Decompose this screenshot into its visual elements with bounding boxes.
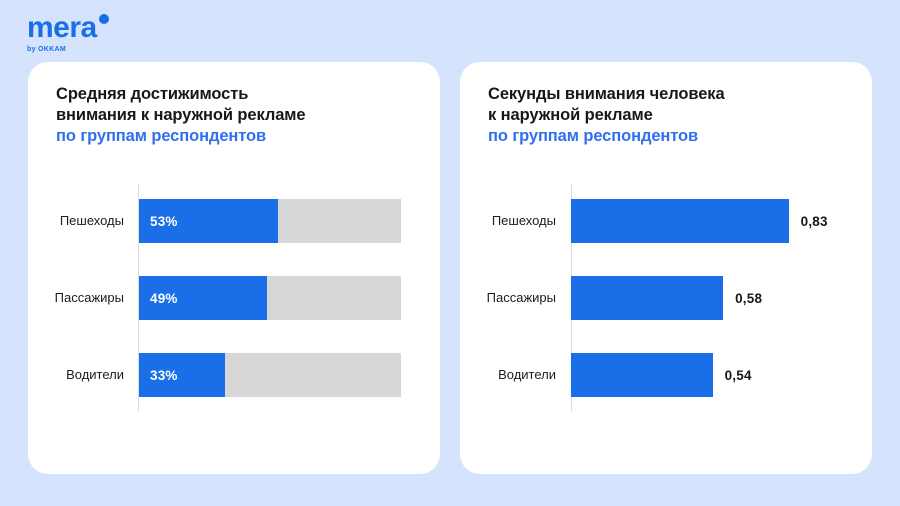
chart-reach-track: 33% [139, 353, 401, 397]
chart-reach-bar: 53% [139, 199, 278, 243]
chart-seconds-bar-value: 0,58 [735, 291, 762, 306]
chart-seconds-bar [571, 276, 723, 320]
chart-seconds: Пешеходы 0,83 Пассажиры 0,58 Водители 0,… [460, 184, 872, 412]
chart-reach-row: Пешеходы 53% [28, 199, 440, 243]
chart-seconds-bar [571, 199, 789, 243]
chart-reach-row: Водители 33% [28, 353, 440, 397]
chart-reach-category-label: Водители [28, 367, 132, 383]
chart-reach-track: 49% [139, 276, 401, 320]
brand-name: mera [27, 13, 97, 43]
chart-reach-row: Пассажиры 49% [28, 276, 440, 320]
chart-reach-track: 53% [139, 199, 401, 243]
card-reach-title-line2: внимания к наружной рекламе [56, 106, 306, 124]
chart-seconds-category-label: Пешеходы [460, 213, 564, 229]
chart-seconds-row: Водители 0,54 [460, 353, 872, 397]
card-reach-title-line1: Средняя достижимость [56, 85, 248, 103]
chart-seconds-row: Пешеходы 0,83 [460, 199, 872, 243]
brand-logo: mera by OKKAM [27, 13, 109, 53]
chart-reach-category-label: Пешеходы [28, 213, 132, 229]
card-reach-title-accent: по группам респондентов [56, 126, 306, 147]
chart-reach-bar: 33% [139, 353, 225, 397]
brand-dot-icon [99, 14, 109, 24]
chart-seconds-bar-wrap: 0,54 [571, 353, 752, 397]
brand-logo-row: mera [27, 13, 109, 43]
card-seconds-title-line2: к наружной рекламе [488, 106, 653, 124]
card-seconds-title: Секунды внимания человека к наружной рек… [488, 84, 725, 147]
chart-reach-bar: 49% [139, 276, 267, 320]
card-seconds-title-line1: Секунды внимания человека [488, 85, 725, 103]
chart-reach-category-label: Пассажиры [28, 290, 132, 306]
card-reach: Средняя достижимость внимания к наружной… [28, 62, 440, 474]
chart-reach: Пешеходы 53% Пассажиры 49% Водители [28, 184, 440, 412]
chart-seconds-category-label: Водители [460, 367, 564, 383]
chart-seconds-bar-wrap: 0,83 [571, 199, 828, 243]
card-seconds: Секунды внимания человека к наружной рек… [460, 62, 872, 474]
chart-seconds-row: Пассажиры 0,58 [460, 276, 872, 320]
chart-seconds-bar-value: 0,83 [801, 214, 828, 229]
brand-subtitle: by OKKAM [27, 46, 109, 53]
slide-canvas: mera by OKKAM Средняя достижимость внима… [0, 0, 900, 506]
chart-reach-bar-value: 49% [139, 291, 178, 306]
chart-reach-bar-value: 33% [139, 368, 178, 383]
card-reach-title: Средняя достижимость внимания к наружной… [56, 84, 306, 147]
chart-seconds-bar-wrap: 0,58 [571, 276, 762, 320]
card-seconds-title-accent: по группам респондентов [488, 126, 725, 147]
chart-seconds-category-label: Пассажиры [460, 290, 564, 306]
chart-reach-bar-value: 53% [139, 214, 178, 229]
chart-seconds-bar-value: 0,54 [725, 368, 752, 383]
chart-seconds-bar [571, 353, 713, 397]
